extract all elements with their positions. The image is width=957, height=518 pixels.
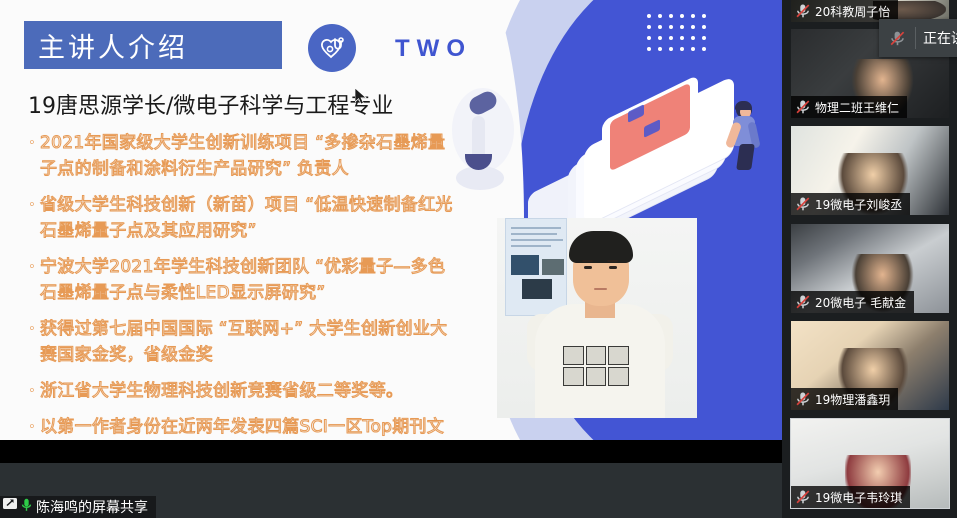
isometric-laptop-illustration <box>562 70 762 230</box>
participant-name: 19微电子韦玲琪 <box>815 489 902 506</box>
speaking-tooltip-text: 正在讲 <box>916 28 957 48</box>
slide-bullet-item: ◦宁波大学2021年学生科技创新团队 “优彩量子—多色石墨烯量子点与柔性LED显… <box>24 254 454 306</box>
zoom-meeting-window: 主讲人介绍 TWO 19唐思源学长/微电子科学与工程专业 ◦2021年国家级大学… <box>0 0 957 518</box>
mic-muted-icon <box>795 294 811 310</box>
speaking-tooltip: 正在讲 <box>879 19 957 57</box>
presentation-slide: 主讲人介绍 TWO 19唐思源学长/微电子科学与工程专业 ◦2021年国家级大学… <box>0 0 782 440</box>
participant-tile[interactable]: 19微电子韦玲琪 <box>791 419 949 508</box>
participant-name: 19物理潘鑫玥 <box>815 391 890 408</box>
participant-video-strip[interactable]: 19微电子韦玲琪19物理潘鑫玥20微电子 毛献金19微电子刘峻丞物理二班王维仁2… <box>782 0 957 518</box>
slide-bullet-item: ◦2021年国家级大学生创新训练项目 “多掺杂石墨烯量子点的制备和涂料衍生产品研… <box>24 130 454 182</box>
slide-letterbox-band <box>0 440 782 463</box>
participant-name: 19微电子刘峻丞 <box>815 196 902 213</box>
participant-name: 20科教周子怡 <box>815 3 890 20</box>
bullet-marker-icon: ◦ <box>24 130 40 182</box>
participant-name-bar: 19微电子刘峻丞 <box>791 193 910 215</box>
mic-muted-icon <box>795 3 811 19</box>
screen-share-status: 陈海鸣的屏幕共享 <box>0 496 156 518</box>
slide-bullet-text: 以第一作者身份在近两年发表四篇SCI一区Top期刊文章，总影响因子已达28+ <box>40 414 454 440</box>
slide-bullet-text: 浙江省大学生物理科技创新竞赛省级二等奖等。 <box>40 378 403 404</box>
participant-name-bar: 物理二班王维仁 <box>791 96 907 118</box>
slide-bullet-list: ◦2021年国家级大学生创新训练项目 “多掺杂石墨烯量子点的制备和涂料衍生产品研… <box>24 130 454 440</box>
mic-muted-icon <box>795 489 811 505</box>
screen-share-icon <box>3 498 17 516</box>
mic-muted-icon <box>795 99 811 115</box>
slide-bullet-text: 2021年国家级大学生创新训练项目 “多掺杂石墨烯量子点的制备和涂料衍生产品研究… <box>40 130 454 182</box>
bullet-marker-icon: ◦ <box>24 192 40 244</box>
bullet-marker-icon: ◦ <box>24 254 40 306</box>
poster-on-wall <box>505 218 567 316</box>
slide-bullet-item: ◦以第一作者身份在近两年发表四篇SCI一区Top期刊文章，总影响因子已达28+ <box>24 414 454 440</box>
shared-screen-area[interactable]: 主讲人介绍 TWO 19唐思源学长/微电子科学与工程专业 ◦2021年国家级大学… <box>0 0 782 518</box>
illustration-person <box>725 102 765 180</box>
participant-tile[interactable]: 19物理潘鑫玥 <box>791 321 949 410</box>
participant-name-bar: 20微电子 毛献金 <box>791 291 914 313</box>
participant-name: 20微电子 毛献金 <box>815 294 906 311</box>
presenter-photo <box>497 218 697 418</box>
dot-grid-decoration <box>647 14 705 56</box>
heart-stethoscope-icon <box>308 24 356 72</box>
mic-muted-icon <box>879 30 915 47</box>
mouse-cursor-icon <box>355 88 367 106</box>
slide-bullet-text: 获得过第七届中国国际 “互联网+” 大学生创新创业大赛国家金奖，省级金奖 <box>40 316 454 368</box>
participant-name-bar: 19物理潘鑫玥 <box>791 388 898 410</box>
slide-subtitle: 19唐思源学长/微电子科学与工程专业 <box>28 88 393 120</box>
illustration-lamp <box>452 88 522 208</box>
bullet-marker-icon: ◦ <box>24 316 40 368</box>
slide-title: 主讲人介绍 <box>38 26 188 65</box>
slide-bullet-item: ◦浙江省大学生物理科技创新竞赛省级二等奖等。 <box>24 378 454 404</box>
slide-title-box: 主讲人介绍 <box>24 21 282 69</box>
mic-muted-icon <box>795 391 811 407</box>
slide-bullet-text: 宁波大学2021年学生科技创新团队 “优彩量子—多色石墨烯量子点与柔性LED显示… <box>40 254 454 306</box>
bullet-marker-icon: ◦ <box>24 414 40 440</box>
participant-name-bar: 19微电子韦玲琪 <box>791 486 910 508</box>
slide-bullet-item: ◦获得过第七届中国国际 “互联网+” 大学生创新创业大赛国家金奖，省级金奖 <box>24 316 454 368</box>
screen-share-label: 陈海鸣的屏幕共享 <box>36 497 148 517</box>
microphone-icon <box>21 498 32 517</box>
tshirt-print <box>563 346 629 386</box>
slide-bullet-text: 省级大学生科技创新（新苗）项目 “低温快速制备红光石墨烯量子点及其应用研究” <box>40 192 454 244</box>
mic-muted-icon <box>795 196 811 212</box>
participant-tile[interactable]: 19微电子刘峻丞 <box>791 126 949 215</box>
slide-logo-text: TWO <box>395 35 472 63</box>
participant-name: 物理二班王维仁 <box>815 99 899 116</box>
participant-tile[interactable]: 20微电子 毛献金 <box>791 224 949 313</box>
slide-bullet-item: ◦省级大学生科技创新（新苗）项目 “低温快速制备红光石墨烯量子点及其应用研究” <box>24 192 454 244</box>
bullet-marker-icon: ◦ <box>24 378 40 404</box>
